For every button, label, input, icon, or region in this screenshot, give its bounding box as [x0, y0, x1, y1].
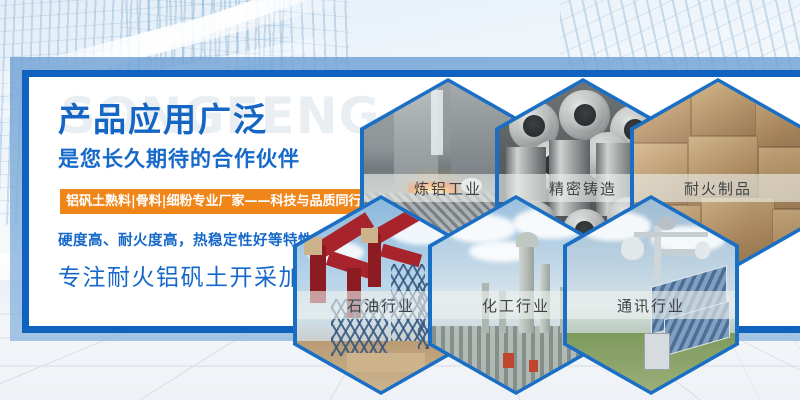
page-title: 产品应用广泛	[58, 100, 268, 140]
status-badge: 铝矾土熟料|骨料|细粉专业厂家——科技与品质同行	[60, 189, 368, 214]
tagline-text: 专注耐火铝矾土开采加工	[58, 263, 328, 293]
promo-banner: SONGFENG 产品应用广泛 是您长久期待的合作伙伴 铝矾土熟料|骨料|细粉专…	[0, 0, 800, 400]
subtitle: 是您长久期待的合作伙伴	[58, 145, 300, 173]
feature-text: 硬度高、耐火度高，热稳定性好等特性	[58, 231, 313, 251]
hex-label-telecom: 通讯行业	[567, 291, 735, 319]
hex-label-refractory: 耐火制品	[634, 174, 800, 202]
